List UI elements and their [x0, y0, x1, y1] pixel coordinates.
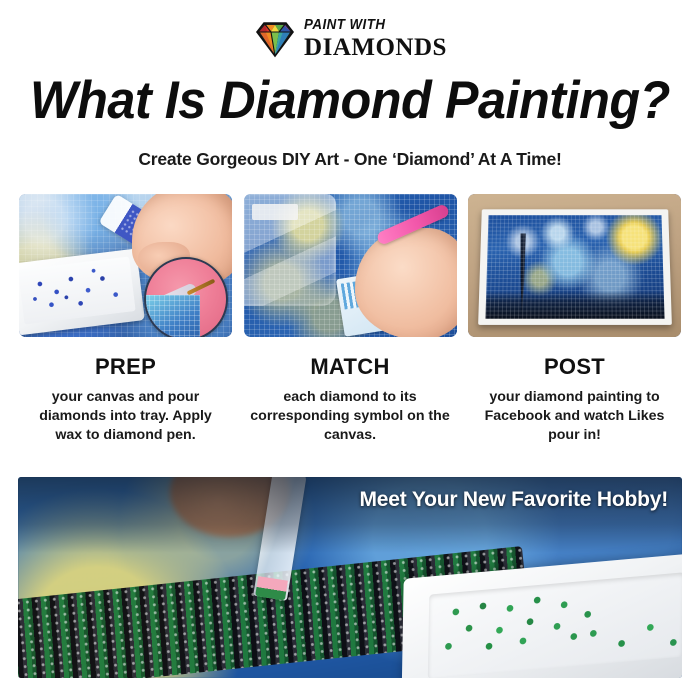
step-post-photo — [468, 194, 681, 337]
diamond-icon — [253, 19, 297, 59]
brand-logo: PAINT WITH DIAMONDS — [0, 0, 700, 68]
banner-headline: Meet Your New Favorite Hobby! — [360, 488, 668, 512]
post-canvas-frame — [478, 209, 672, 325]
post-mosaic-texture — [485, 215, 664, 319]
banner-green-drills-scattered — [577, 608, 682, 670]
prep-inset-canvas — [144, 295, 200, 337]
page-title: What Is Diamond Painting? — [18, 74, 683, 127]
step-post-description: your diamond painting to Facebook and wa… — [468, 388, 681, 446]
step-match-title: MATCH — [244, 354, 457, 380]
step-prep-title: PREP — [19, 354, 232, 380]
step-prep: PREP your canvas and pour diamonds into … — [19, 194, 232, 446]
step-prep-description: your canvas and pour diamonds into tray.… — [19, 388, 232, 446]
step-match-photo — [244, 194, 457, 337]
step-post: POST your diamond painting to Facebook a… — [468, 194, 681, 446]
post-starry-night-art — [485, 215, 664, 319]
step-match: MATCH each diamond to its corresponding … — [244, 194, 457, 446]
steps-row: PREP your canvas and pour diamonds into … — [19, 194, 681, 446]
step-match-description: each diamond to its corresponding symbol… — [244, 388, 457, 446]
logo-wrap: PAINT WITH DIAMONDS — [253, 18, 447, 61]
logo-text: PAINT WITH DIAMONDS — [304, 18, 447, 61]
step-post-title: POST — [468, 354, 681, 380]
logo-line-diamonds: DIAMONDS — [304, 35, 447, 60]
banner-tray-inner — [428, 572, 682, 678]
bottom-banner: Meet Your New Favorite Hobby! — [18, 477, 682, 678]
page-subtitle: Create Gorgeous DIY Art - One ‘Diamond’ … — [0, 149, 700, 170]
match-drill-bags — [244, 194, 336, 306]
step-prep-photo — [19, 194, 232, 337]
logo-line-paint-with: PAINT WITH — [304, 18, 435, 33]
prep-wax-inset — [144, 257, 228, 337]
